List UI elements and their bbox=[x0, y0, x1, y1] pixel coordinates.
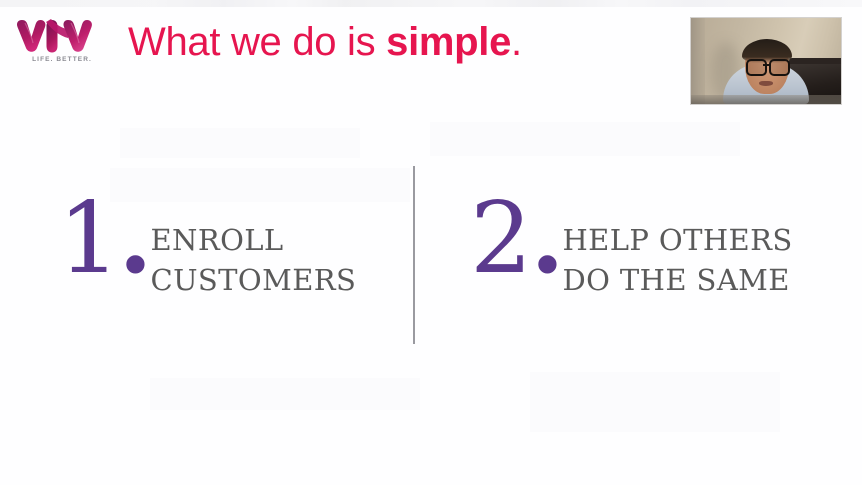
point-2-dot: . bbox=[530, 181, 562, 296]
background-ghost-artifact bbox=[120, 128, 360, 158]
point-1-line-1: ENROLL bbox=[150, 223, 283, 257]
viv-logo: LIFE. BETTER. bbox=[16, 17, 108, 72]
video-person-glasses-bridge bbox=[763, 64, 769, 66]
logo-tagline: LIFE. BETTER. bbox=[16, 56, 108, 63]
slide-title: What we do is simple. bbox=[128, 18, 522, 66]
video-desk-foreground bbox=[691, 95, 841, 104]
presentation-slide: LIFE. BETTER. What we do is simple. 1. E… bbox=[0, 0, 862, 485]
point-2-text: HELP OTHERS DO THE SAME bbox=[562, 220, 792, 300]
point-2-line-1: HELP OTHERS bbox=[562, 223, 792, 257]
numbered-point-1: 1. ENROLL CUSTOMERS bbox=[58, 196, 356, 300]
background-ghost-artifact bbox=[430, 122, 740, 156]
video-wall-edge bbox=[691, 18, 705, 104]
video-person-mouth bbox=[759, 81, 773, 86]
point-1-line-2: CUSTOMERS bbox=[150, 260, 356, 300]
background-ghost-artifact bbox=[150, 378, 420, 410]
video-person-glasses-right bbox=[769, 59, 790, 76]
point-2-number: 2 bbox=[470, 182, 530, 296]
point-2-line-2: DO THE SAME bbox=[562, 260, 792, 300]
numbered-point-2: 2. HELP OTHERS DO THE SAME bbox=[470, 196, 793, 300]
point-1-dot: . bbox=[118, 181, 150, 296]
vertical-divider bbox=[413, 166, 415, 344]
slide-title-period: . bbox=[511, 20, 522, 64]
slide-title-emphasis: simple bbox=[386, 20, 511, 64]
point-1-text: ENROLL CUSTOMERS bbox=[150, 220, 356, 300]
viv-wordmark-icon bbox=[16, 17, 108, 54]
top-chrome-band bbox=[0, 0, 862, 7]
point-1-numeral: 1. bbox=[58, 190, 150, 288]
point-2-numeral: 2. bbox=[470, 190, 562, 288]
background-ghost-artifact bbox=[530, 372, 780, 432]
point-1-number: 1 bbox=[58, 182, 118, 296]
video-person-glasses-left bbox=[746, 59, 767, 76]
webcam-video-feed[interactable] bbox=[691, 18, 841, 104]
slide-title-plain: What we do is bbox=[128, 20, 386, 64]
